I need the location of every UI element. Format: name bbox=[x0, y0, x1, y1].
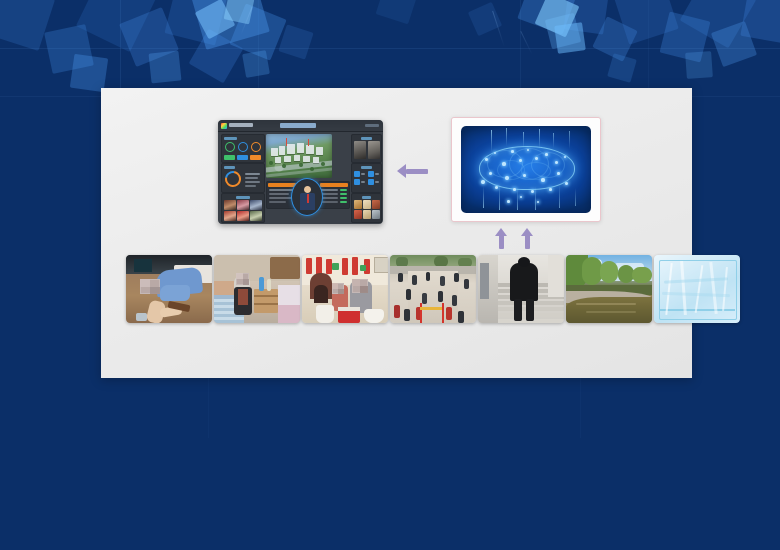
rainbow-logo-icon bbox=[221, 123, 227, 129]
detail-row bbox=[321, 197, 338, 199]
avatar-tie bbox=[307, 194, 309, 203]
device-icon[interactable] bbox=[354, 171, 360, 177]
device-icon[interactable] bbox=[368, 171, 374, 177]
detail-row-value bbox=[340, 193, 347, 195]
detail-row bbox=[321, 201, 338, 203]
photo-thumbnail[interactable] bbox=[354, 200, 362, 209]
photo-stairway[interactable] bbox=[478, 255, 564, 323]
detail-row bbox=[321, 189, 338, 191]
photo-riverside-park[interactable] bbox=[566, 255, 652, 323]
face-thumbnail[interactable] bbox=[224, 211, 236, 221]
arrow-up-shaft bbox=[525, 235, 530, 249]
status-button-orange[interactable] bbox=[250, 155, 261, 160]
ai-brain-card[interactable] bbox=[451, 117, 601, 222]
river-water bbox=[566, 297, 652, 323]
arrow-up-right bbox=[521, 228, 533, 249]
person-silhouette bbox=[510, 263, 538, 301]
arrow-up-left bbox=[495, 228, 507, 249]
dashboard-header-meta bbox=[365, 124, 379, 127]
kpi-pane-label bbox=[224, 137, 237, 140]
barrier-pole bbox=[442, 303, 444, 323]
detail-row bbox=[269, 189, 293, 191]
barrier-pole bbox=[420, 303, 422, 323]
photo-fall-detection[interactable] bbox=[126, 255, 212, 323]
face-thumbnail[interactable] bbox=[250, 200, 262, 210]
arrow-left-to-dashboard bbox=[397, 163, 437, 179]
photo-thumbnail[interactable] bbox=[372, 210, 380, 219]
photo-thumbnail[interactable] bbox=[363, 210, 371, 219]
photo-thumbnails-pane bbox=[351, 193, 382, 223]
donut-stats-pane bbox=[221, 163, 265, 193]
photo-thumbs-label bbox=[362, 196, 371, 199]
resident-avatar[interactable] bbox=[291, 178, 323, 216]
content-panel bbox=[101, 88, 692, 378]
dashboard-header bbox=[218, 120, 383, 132]
device-icon-label bbox=[361, 173, 365, 175]
donut-chart[interactable] bbox=[222, 168, 244, 190]
slide-canvas bbox=[0, 0, 780, 550]
detail-row-value bbox=[340, 197, 347, 199]
detail-row bbox=[321, 193, 338, 195]
face-pane-label bbox=[236, 196, 250, 199]
device-icon[interactable] bbox=[354, 179, 360, 185]
gauge-green[interactable] bbox=[225, 142, 235, 152]
detail-row bbox=[269, 193, 289, 195]
arrow-left-head-icon bbox=[397, 164, 406, 178]
device-icon-label bbox=[375, 181, 379, 183]
status-button-blue[interactable] bbox=[237, 155, 248, 160]
detail-row bbox=[269, 201, 286, 203]
donut-legend-row bbox=[245, 177, 258, 179]
arrow-up-shaft bbox=[499, 235, 504, 249]
detail-row bbox=[269, 197, 293, 199]
status-button-green[interactable] bbox=[224, 155, 235, 160]
device-icon-label bbox=[361, 181, 365, 183]
face-thumbnail[interactable] bbox=[224, 200, 236, 210]
arrow-left-shaft bbox=[406, 169, 428, 174]
camera-feeds-pane bbox=[351, 134, 382, 163]
photo-abstract-blue[interactable] bbox=[654, 255, 740, 323]
face-thumbnails-pane bbox=[221, 193, 265, 223]
detail-row-value bbox=[340, 189, 347, 191]
donut-legend-row bbox=[245, 181, 260, 183]
dashboard-center-title bbox=[280, 123, 316, 128]
camera-feed[interactable] bbox=[368, 141, 380, 159]
dashboard-brand-title bbox=[229, 123, 253, 127]
camera-feed[interactable] bbox=[354, 141, 367, 159]
donut-pane-label bbox=[224, 166, 235, 169]
device-icon[interactable] bbox=[368, 179, 374, 185]
smart-care-dashboard[interactable] bbox=[218, 120, 383, 224]
face-thumbnail[interactable] bbox=[250, 211, 262, 221]
kpi-gauges-pane bbox=[221, 134, 265, 163]
photo-thumbnail[interactable] bbox=[372, 200, 380, 209]
photo-outdoor-courtyard[interactable] bbox=[390, 255, 476, 323]
face-thumbnail[interactable] bbox=[237, 200, 249, 210]
photo-activity-room[interactable] bbox=[302, 255, 388, 323]
gauge-blue[interactable] bbox=[238, 142, 248, 152]
donut-legend-row bbox=[245, 173, 260, 175]
device-icon-label bbox=[375, 173, 379, 175]
photo-thumbnail[interactable] bbox=[363, 200, 371, 209]
detail-row-value bbox=[340, 201, 347, 203]
gauge-orange[interactable] bbox=[251, 142, 261, 152]
barrier-bar bbox=[420, 307, 444, 310]
panel-header-left bbox=[268, 183, 296, 187]
face-thumbnail[interactable] bbox=[237, 211, 249, 221]
avatar-head bbox=[304, 186, 311, 193]
photo-bedroom-care[interactable] bbox=[214, 255, 300, 323]
digital-ai-brain-image bbox=[461, 126, 591, 213]
panel-header-right bbox=[320, 183, 348, 187]
campus-3d-map[interactable] bbox=[266, 134, 332, 178]
device-icon-grid-pane bbox=[351, 163, 382, 193]
source-photo-strip bbox=[126, 255, 740, 323]
camera-pane-label bbox=[361, 137, 372, 140]
icon-grid-label bbox=[361, 166, 372, 169]
photo-thumbnail[interactable] bbox=[354, 210, 362, 219]
donut-legend-row bbox=[245, 185, 256, 187]
